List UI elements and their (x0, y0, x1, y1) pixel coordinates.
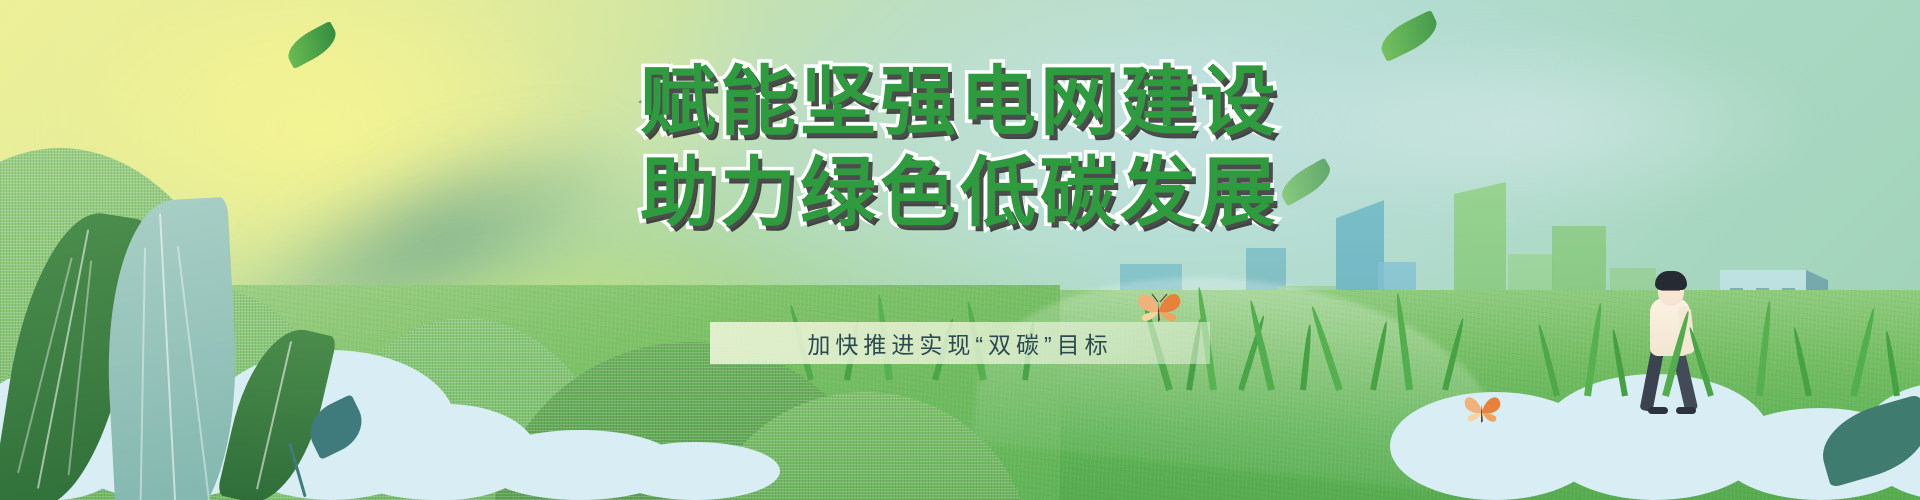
butterfly-icon-on-grass (1462, 392, 1502, 428)
title-block: 赋能坚强电网建设 助力绿色低碳发展 (0, 60, 1920, 236)
subtitle-text: 加快推进实现“双碳”目标 (710, 322, 1210, 364)
grass-blade (1370, 321, 1389, 391)
grass-blade-group-right (1550, 296, 1920, 396)
eco-green-banner: 赋能坚强电网建设 助力绿色低碳发展 加快推进实现“双碳”目标 (0, 0, 1920, 500)
grass-blade (1792, 327, 1812, 397)
leaf-teal-stem-right (290, 404, 360, 496)
grass-blade (1442, 317, 1466, 390)
leaf-stem (288, 443, 306, 498)
grass-blade (1309, 305, 1343, 391)
person-shoe-back (1648, 407, 1668, 414)
grass-blade (1687, 326, 1714, 397)
person-shoe-front (1676, 407, 1696, 414)
grass-blade (1662, 310, 1692, 397)
grass-blade (1610, 329, 1628, 397)
title-line-2: 助力绿色低碳发展 (0, 151, 1920, 236)
grass-blade (1584, 302, 1604, 396)
grass-blade (1756, 300, 1773, 396)
person-hair (1655, 271, 1687, 290)
leaf-vein (68, 260, 92, 475)
cloud-cluster-center (330, 410, 770, 500)
butterfly-icon-near-title (1136, 288, 1182, 328)
grass-blade (1884, 330, 1900, 396)
leaf-vein (159, 214, 177, 500)
title-line-1: 赋能坚强电网建设 (0, 60, 1920, 145)
grass-blade (1850, 308, 1877, 397)
leaf-vein (177, 246, 210, 500)
grass-blade (1300, 324, 1313, 390)
grass-blade (1394, 292, 1413, 390)
person-glasses (1661, 290, 1680, 294)
leaf-vein (140, 248, 147, 500)
leaf-vein (256, 341, 292, 489)
cloud-lobe (610, 442, 780, 500)
